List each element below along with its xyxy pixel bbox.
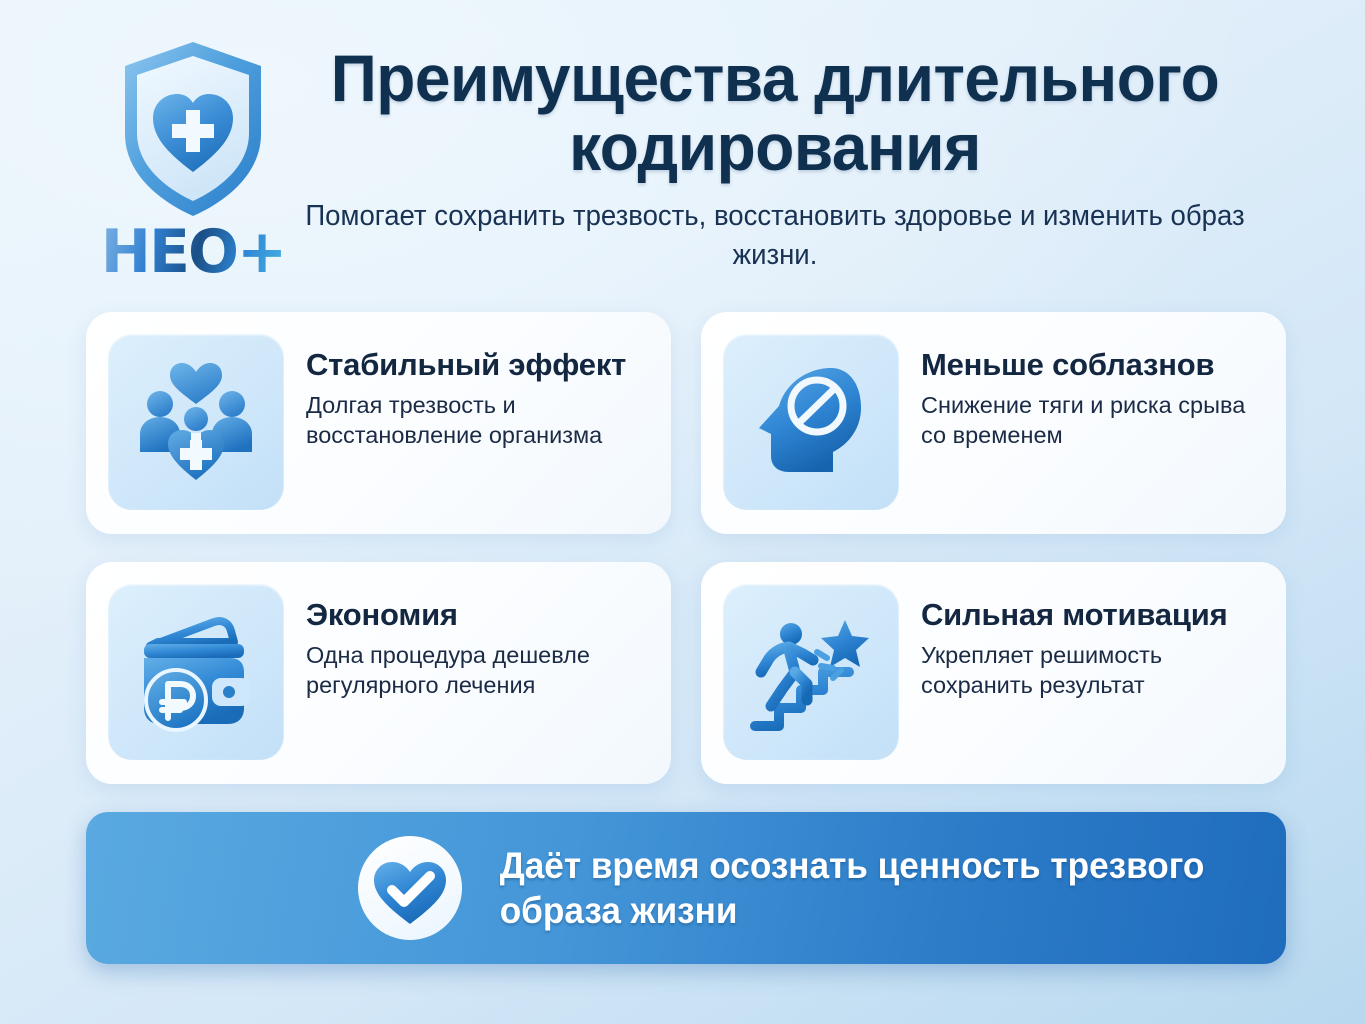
card-heading: Стабильный эффект: [306, 348, 645, 383]
card-text: Стабильный эффект Долгая трезвость и вос…: [306, 334, 645, 451]
card-heading: Сильная мотивация: [921, 598, 1260, 633]
benefit-card-savings[interactable]: Экономия Одна процедура дешевле регулярн…: [86, 562, 671, 784]
page-subtitle: Помогает сохранить трезвость, восстанови…: [295, 197, 1255, 275]
card-description: Одна процедура дешевле регулярного лечен…: [306, 640, 645, 701]
card-icon-tile: [108, 584, 284, 760]
card-description: Укрепляет решимость сохранить результат: [921, 640, 1260, 701]
card-text: Меньше соблазнов Снижение тяги и риска с…: [921, 334, 1260, 451]
card-text: Экономия Одна процедура дешевле регулярн…: [306, 584, 645, 701]
title-block: Преимущества длительного кодирования Пом…: [270, 44, 1280, 275]
bottom-banner[interactable]: Даёт время осознать ценность трезвого об…: [86, 812, 1286, 964]
wallet-ruble-icon: [130, 606, 262, 738]
poster-header: НЕО+ Преимущества длительного кодировани…: [0, 0, 1365, 300]
card-icon-tile: [723, 334, 899, 510]
infographic-poster: НЕО+ Преимущества длительного кодировани…: [0, 0, 1365, 1024]
page-title: Преимущества длительного кодирования: [285, 44, 1265, 181]
card-description: Долгая трезвость и восстановление органи…: [306, 390, 645, 451]
card-icon-tile: [723, 584, 899, 760]
family-heart-plus-icon: [130, 356, 262, 488]
head-no-entry-icon: [745, 356, 877, 488]
shield-heart-cross-icon: [117, 38, 269, 220]
benefit-card-motivation[interactable]: Сильная мотивация Укрепляет решимость со…: [701, 562, 1286, 784]
banner-text: Даёт время осознать ценность трезвого об…: [266, 843, 1235, 933]
card-text: Сильная мотивация Укрепляет решимость со…: [921, 584, 1260, 701]
benefit-card-grid: Стабильный эффект Долгая трезвость и вос…: [86, 312, 1286, 784]
card-icon-tile: [108, 334, 284, 510]
card-heading: Меньше соблазнов: [921, 348, 1260, 383]
card-heading: Экономия: [306, 598, 645, 633]
benefit-card-fewer-temptations[interactable]: Меньше соблазнов Снижение тяги и риска с…: [701, 312, 1286, 534]
person-stairs-star-icon: [745, 606, 877, 738]
card-description: Снижение тяги и риска срыва со временем: [921, 390, 1260, 451]
benefit-card-stable-effect[interactable]: Стабильный эффект Долгая трезвость и вос…: [86, 312, 671, 534]
brand-wordmark: НЕО+: [101, 222, 285, 282]
